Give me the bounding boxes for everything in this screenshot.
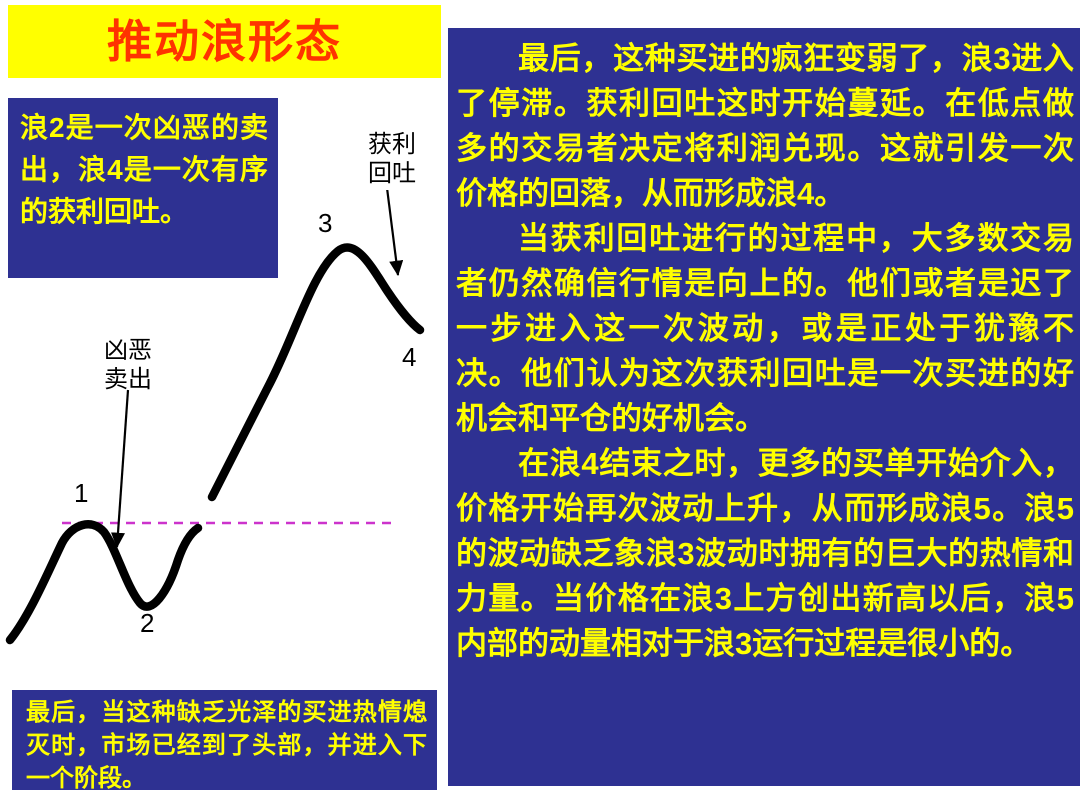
- profit-taking-annotation-line2: 回吐: [368, 160, 416, 189]
- profit-taking-annotation: 获利 回吐: [368, 131, 416, 189]
- impulse-wave-chart: [0, 190, 445, 690]
- page-title: 推动浪形态: [107, 19, 342, 64]
- title-banner: 推动浪形态: [8, 5, 441, 78]
- wave-segment-lower: [10, 524, 198, 640]
- bottom-note-text: 最后，当这种缺乏光泽的买进热情熄灭时，市场已经到了头部，并进入下一个阶段。: [26, 696, 427, 795]
- wave-point-label-1: 1: [74, 478, 88, 509]
- bottom-note-callout: 最后，当这种缺乏光泽的买进热情熄灭时，市场已经到了头部，并进入下一个阶段。: [12, 690, 437, 790]
- vicious-sell-annotation: 凶恶 卖出: [104, 337, 152, 395]
- body-text-panel: 最后，这种买进的疯狂变弱了，浪3进入了停滞。获利回吐这时开始蔓延。在低点做多的交…: [448, 28, 1080, 786]
- wave-point-label-2: 2: [140, 608, 154, 639]
- body-paragraph-1: 最后，这种买进的疯狂变弱了，浪3进入了停滞。获利回吐这时开始蔓延。在低点做多的交…: [456, 36, 1074, 216]
- wave-chart-svg: [0, 190, 445, 690]
- wave-point-label-4: 4: [402, 342, 416, 373]
- vicious-sell-annotation-line2: 卖出: [104, 366, 152, 395]
- body-paragraph-3: 在浪4结束之时，更多的买单开始介入，价格开始再次波动上升，从而形成浪5。浪5的波…: [456, 441, 1074, 666]
- vicious-sell-annotation-line1: 凶恶: [104, 337, 152, 366]
- body-paragraph-2: 当获利回吐进行的过程中，大多数交易者仍然确信行情是向上的。他们或者是迟了一步进入…: [456, 216, 1074, 441]
- wave-point-label-3: 3: [318, 208, 332, 239]
- profit-taking-annotation-line1: 获利: [368, 131, 416, 160]
- profit-taking-arrow: [386, 190, 398, 275]
- wave-segment-upper: [212, 248, 420, 497]
